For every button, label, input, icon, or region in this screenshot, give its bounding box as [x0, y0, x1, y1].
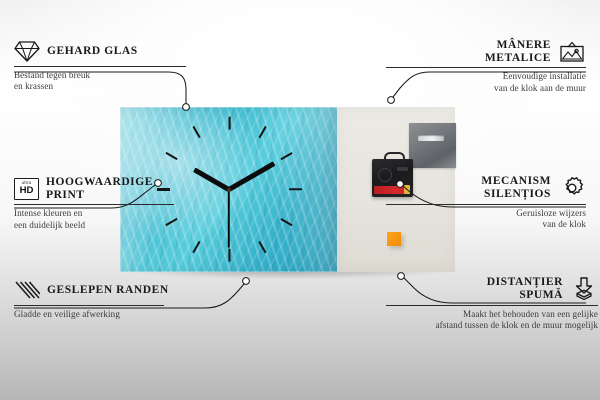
feature-spacer: DISTANȚIER SPUMĂ Maakt het behouden van …: [386, 276, 598, 332]
feature-mechanism-subtitle: Geruisloze wijzers van de klok: [386, 208, 586, 231]
feature-spacer-rule: [386, 305, 598, 306]
feature-handles-head: MÂNERE METALICE: [386, 39, 586, 64]
feature-spacer-head: DISTANȚIER SPUMĂ: [386, 276, 598, 302]
feature-print-subtitle: Intense kleuren en een duidelijk beeld: [14, 208, 214, 231]
feature-handles: MÂNERE METALICE Eenvoudige installatie v…: [386, 39, 586, 94]
feature-edges: GESLEPEN RANDEN Gladde en veilige afwerk…: [14, 278, 214, 320]
feature-mechanism-rule: [386, 204, 586, 205]
infographic-stage: GEHARD GLAS Bestand tegen breuk en krass…: [0, 0, 600, 400]
feature-handles-subtitle: Eenvoudige installatie van de klok aan d…: [386, 71, 586, 94]
feature-glass: GEHARD GLAS Bestand tegen breuk en krass…: [14, 39, 214, 93]
feature-print-rule: [14, 204, 174, 205]
feature-spacer-subtitle: Maakt het behouden van een gelijke afsta…: [386, 309, 598, 332]
feature-mechanism-head: MECANISM SILENȚIOS: [386, 175, 586, 201]
feature-mechanism: MECANISM SILENȚIOS Geruisloze wijzers va…: [386, 175, 586, 231]
feature-print-title: HOOGWAARDIGE PRINT: [46, 176, 166, 201]
ultra-hd-icon: ultra HD: [14, 178, 39, 200]
feature-edges-head: GESLEPEN RANDEN: [14, 278, 214, 302]
feature-print: ultra HD HOOGWAARDIGE PRINT Intense kleu…: [14, 176, 214, 231]
feature-handles-title: MÂNERE METALICE: [431, 39, 551, 64]
feature-glass-rule: [14, 66, 186, 67]
feature-glass-head: GEHARD GLAS: [14, 39, 214, 63]
feature-glass-title: GEHARD GLAS: [47, 45, 138, 58]
feature-edges-title: GESLEPEN RANDEN: [47, 284, 169, 297]
feature-mechanism-title: MECANISM SILENȚIOS: [433, 175, 551, 200]
feature-edges-subtitle: Gladde en veilige afwerking: [14, 309, 214, 320]
feature-handles-rule: [386, 67, 586, 68]
beveled-edge-icon: [14, 278, 40, 302]
press-down-pad-icon: [570, 276, 598, 302]
wall-mount-frame-icon: [558, 40, 586, 64]
diamond-icon: [14, 39, 40, 63]
feature-spacer-title: DISTANȚIER SPUMĂ: [443, 276, 563, 301]
feature-edges-rule: [14, 305, 164, 306]
gear-icon: [558, 175, 586, 201]
ultra-hd-icon-main: HD: [20, 186, 34, 196]
feature-glass-subtitle: Bestand tegen breuk en krassen: [14, 70, 214, 93]
feature-print-head: ultra HD HOOGWAARDIGE PRINT: [14, 176, 214, 201]
